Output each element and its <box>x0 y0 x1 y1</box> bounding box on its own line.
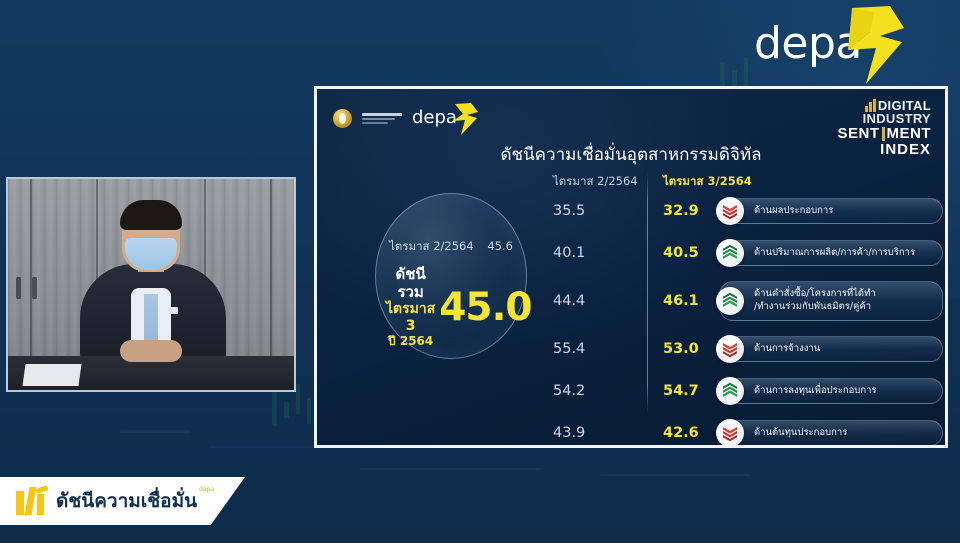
ministry-seal-icon <box>333 109 352 128</box>
row-label: ด้านคำสั่งซื้อ/โครงการที่ได้ทำ /ทำงานร่ว… <box>754 288 876 314</box>
chevron-up-triple-green-icon <box>716 287 744 315</box>
overall-previous-value: 45.6 <box>487 239 513 253</box>
row-label: ด้านผลประกอบการ <box>754 205 833 218</box>
badge-divider-bar <box>882 127 885 141</box>
overall-index-circle: ไตรมาส 2/2564 45.6 ดัชนีรวม ไตรมาส 3 ปี … <box>375 193 527 359</box>
table-row: 40.1 40.5 ด้านปริมาณการผลิต/การค้า/การบร… <box>553 235 943 271</box>
depa-brand-logo: depa <box>748 8 898 84</box>
row-current-value: 54.7 <box>663 383 719 399</box>
row-label-line2: /ทำงานร่วมกับพันธมิตร/คู่ค้า <box>754 301 871 312</box>
speaker-hands <box>120 340 182 362</box>
speaker-video-feed <box>6 177 296 392</box>
overall-label: ดัชนีรวม ไตรมาส 3 ปี 2564 <box>386 266 435 349</box>
row-previous-value: 44.4 <box>553 293 645 309</box>
chevron-down-triple-red-icon <box>716 419 744 447</box>
badge-ment: MENT <box>887 126 932 141</box>
row-current-value: 46.1 <box>663 293 719 309</box>
row-previous-value: 55.4 <box>553 341 645 357</box>
row-previous-value: 54.2 <box>553 383 645 399</box>
table-row: 35.5 32.9 ด้านผลประกอบการ <box>553 193 943 229</box>
thai-logo-mark-icon <box>16 487 50 515</box>
column-header-previous: ไตรมาส 2/2564 <box>553 173 645 191</box>
row-label: ด้านปริมาณการผลิต/การค้า/การบริการ <box>754 247 915 260</box>
row-pill: ด้านการลงทุนเพื่อประกอบการ <box>719 378 943 404</box>
broadcast-screen: depa depa <box>0 0 960 543</box>
row-label: ด้านการจ้างงาน <box>754 343 820 356</box>
chevron-up-triple-green-icon <box>716 239 744 267</box>
row-label: ด้านการลงทุนเพื่อประกอบการ <box>754 385 877 398</box>
table-row: 44.4 46.1 ด้านคำสั่งซื้อ/โครงการที่ได้ทำ… <box>553 277 943 325</box>
column-header-current: ไตรมาส 3/2564 <box>663 173 752 191</box>
ministry-name-mark <box>362 113 402 124</box>
overall-label-line2: ไตรมาส 3 <box>386 301 435 334</box>
badge-industry: INDUSTRY <box>837 112 931 125</box>
row-label-line1: ด้านคำสั่งซื้อ/โครงการที่ได้ทำ <box>754 288 876 299</box>
row-pill: ด้านต้นทุนประกอบการ <box>719 420 943 446</box>
index-rows: 35.5 32.9 ด้านผลประกอบการ 40.1 40.5 <box>553 193 943 448</box>
row-current-value: 42.6 <box>663 425 719 441</box>
slide-logo-group: depa <box>333 105 474 131</box>
overall-index-value: 45.0 <box>439 285 531 330</box>
lightning-bolt-icon <box>844 6 904 86</box>
row-pill: ด้านการจ้างงาน <box>719 336 943 362</box>
row-previous-value: 35.5 <box>553 203 645 219</box>
row-previous-value: 40.1 <box>553 245 645 261</box>
badge-sent: SENT <box>837 126 879 141</box>
row-current-value: 53.0 <box>663 341 719 357</box>
overall-previous-row: ไตรมาส 2/2564 45.6 <box>376 238 526 256</box>
speaker-hair <box>120 200 182 230</box>
row-current-value: 40.5 <box>663 245 719 261</box>
slide-depa-logo: depa <box>412 105 474 131</box>
row-pill: ด้านคำสั่งซื้อ/โครงการที่ได้ทำ /ทำงานร่ว… <box>719 281 943 321</box>
table-row: 54.2 54.7 ด้านการลงทุนเพื่อประกอบการ <box>553 373 943 409</box>
page-title: ดัชนีความเชื่อมั่นอุตสาหกรรมดิจิทัล <box>317 141 945 168</box>
desk-papers <box>22 364 81 386</box>
row-previous-value: 43.9 <box>553 425 645 441</box>
row-pill: ด้านผลประกอบการ <box>719 198 943 224</box>
row-current-value: 32.9 <box>663 203 719 219</box>
table-row: 43.9 42.6 ด้านต้นทุนประกอบการ <box>553 415 943 448</box>
overall-label-line3: ปี 2564 <box>386 334 435 348</box>
lightning-bolt-icon <box>452 103 478 135</box>
row-label: ด้านต้นทุนประกอบการ <box>754 427 847 440</box>
overall-label-line1: ดัชนีรวม <box>386 266 435 301</box>
table-row: 55.4 53.0 ด้านการจ้างงาน <box>553 331 943 367</box>
presentation-slide: depa DIGITAL INDUSTRY SENT MENT INDEX ดั… <box>314 86 948 448</box>
banner-title: ดัชนีความเชื่อมั่น <box>56 486 197 516</box>
overall-previous-label: ไตรมาส 2/2564 <box>389 239 474 253</box>
lower-third-banner: ดัชนีความเชื่อมั่น depa <box>0 477 245 525</box>
chevron-up-triple-green-icon <box>716 377 744 405</box>
overall-current-group: ดัชนีรวม ไตรมาส 3 ปี 2564 45.0 <box>386 266 532 349</box>
speaker-lapel-pin <box>169 307 178 314</box>
chevron-down-triple-red-icon <box>716 335 744 363</box>
chevron-down-triple-red-icon <box>716 197 744 225</box>
slide-depa-wordmark: depa <box>412 107 457 128</box>
row-pill: ด้านปริมาณการผลิต/การค้า/การบริการ <box>719 240 943 266</box>
banner-superscript: depa <box>199 486 214 493</box>
column-headers: ไตรมาส 2/2564 ไตรมาส 3/2564 <box>553 173 752 191</box>
